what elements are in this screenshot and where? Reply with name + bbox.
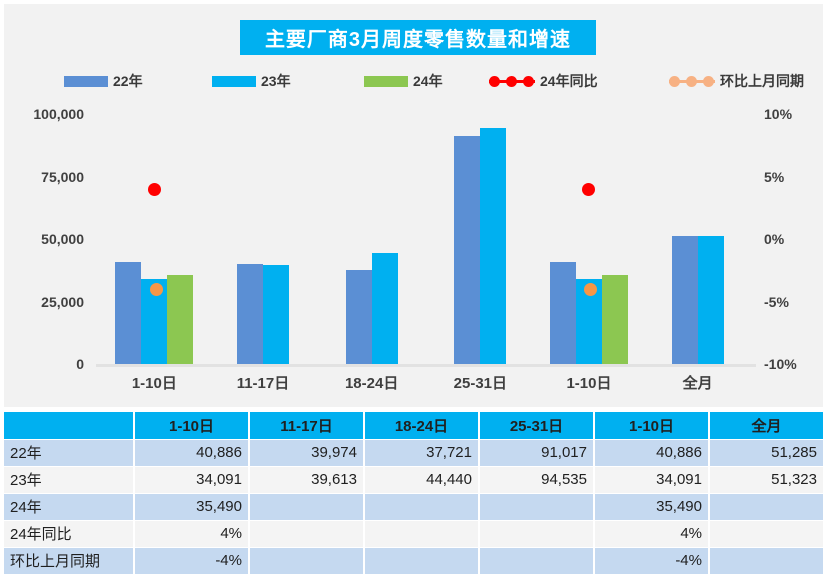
bar-group bbox=[535, 114, 644, 364]
plot-area bbox=[100, 114, 752, 364]
table-row-label: 23年 bbox=[4, 466, 134, 493]
y-axis-tick-left: 75,000 bbox=[41, 170, 84, 184]
chart-panel: 主要厂商3月周度零售数量和增速 22年23年24年24年同比环比上月同期 100… bbox=[4, 4, 823, 407]
table-cell: 40,886 bbox=[134, 439, 249, 466]
table-cell: 51,285 bbox=[709, 439, 823, 466]
y-axis-tick-right: 10% bbox=[764, 107, 792, 121]
bar-22年 bbox=[454, 136, 480, 364]
table-cell bbox=[364, 493, 479, 520]
legend-marker-icon bbox=[489, 75, 535, 87]
chart-screenshot: 主要厂商3月周度零售数量和增速 22年23年24年24年同比环比上月同期 100… bbox=[0, 0, 827, 575]
chart-legend: 22年23年24年24年同比环比上月同期 bbox=[64, 68, 784, 94]
bar-group bbox=[209, 114, 318, 364]
bar-22年 bbox=[115, 262, 141, 364]
table-cell: 40,886 bbox=[594, 439, 709, 466]
table-header-row: 1-10日11-17日18-24日25-31日1-10日全月 bbox=[4, 412, 823, 439]
legend-label: 24年 bbox=[413, 71, 443, 91]
table-row: 24年同比4%4% bbox=[4, 520, 823, 547]
legend-color-swatch bbox=[64, 76, 108, 87]
table-cell bbox=[709, 547, 823, 574]
y-axis-tick-left: 100,000 bbox=[33, 107, 84, 121]
table-cell bbox=[479, 520, 594, 547]
x-axis-label: 1-10日 bbox=[535, 372, 644, 393]
table-cell: 4% bbox=[134, 520, 249, 547]
x-axis-label: 1-10日 bbox=[100, 372, 209, 393]
table-cell: 35,490 bbox=[594, 493, 709, 520]
point-环比上月同期 bbox=[584, 283, 597, 296]
y-axis-tick-right: 0% bbox=[764, 232, 784, 246]
table-column-header: 18-24日 bbox=[364, 412, 479, 439]
bar-group bbox=[317, 114, 426, 364]
table-cell: -4% bbox=[134, 547, 249, 574]
bar-group bbox=[426, 114, 535, 364]
y-axis-tick-left: 0 bbox=[76, 357, 84, 371]
y-axis-right: 10%5%0%-5%-10% bbox=[754, 104, 826, 372]
x-axis-label: 18-24日 bbox=[317, 372, 426, 393]
table-cell bbox=[709, 493, 823, 520]
bar-22年 bbox=[550, 262, 576, 364]
bar-23年 bbox=[698, 236, 724, 364]
x-axis-label: 全月 bbox=[643, 372, 752, 393]
table-cell bbox=[479, 547, 594, 574]
table-row: 24年35,49035,490 bbox=[4, 493, 823, 520]
point-24年同比 bbox=[582, 183, 595, 196]
point-24年同比 bbox=[148, 183, 161, 196]
bar-23年 bbox=[480, 128, 506, 364]
bar-23年 bbox=[263, 265, 289, 364]
legend-23[interactable]: 23年 bbox=[212, 68, 291, 94]
y-axis-tick-right: -10% bbox=[764, 357, 797, 371]
legend-color-swatch bbox=[364, 76, 408, 87]
bar-23年 bbox=[372, 253, 398, 364]
legend-label: 22年 bbox=[113, 71, 143, 91]
y-axis-tick-right: 5% bbox=[764, 170, 784, 184]
table-row: 23年34,09139,61344,44094,53534,09151,323 bbox=[4, 466, 823, 493]
table-column-header: 1-10日 bbox=[594, 412, 709, 439]
legend-22[interactable]: 22年 bbox=[64, 68, 143, 94]
bar-group bbox=[643, 114, 752, 364]
y-axis-left: 100,00075,00050,00025,0000 bbox=[4, 104, 92, 372]
table-corner-cell bbox=[4, 412, 134, 439]
x-axis-label: 25-31日 bbox=[426, 372, 535, 393]
legend-label: 24年同比 bbox=[540, 71, 598, 91]
data-table: 1-10日11-17日18-24日25-31日1-10日全月22年40,8863… bbox=[4, 412, 823, 575]
table-cell bbox=[249, 547, 364, 574]
bar-24年 bbox=[602, 275, 628, 364]
table-column-header: 1-10日 bbox=[134, 412, 249, 439]
legend-marker-icon bbox=[669, 75, 715, 87]
legend-label: 环比上月同期 bbox=[720, 71, 804, 91]
bar-24年 bbox=[167, 275, 193, 364]
table-column-header: 25-31日 bbox=[479, 412, 594, 439]
bar-group bbox=[100, 114, 209, 364]
bar-22年 bbox=[237, 264, 263, 364]
table-cell bbox=[364, 520, 479, 547]
table-cell: 4% bbox=[594, 520, 709, 547]
table-cell: -4% bbox=[594, 547, 709, 574]
bar-22年 bbox=[672, 236, 698, 364]
table-cell: 34,091 bbox=[594, 466, 709, 493]
table-cell: 35,490 bbox=[134, 493, 249, 520]
bar-22年 bbox=[346, 270, 372, 364]
table-row-label: 24年 bbox=[4, 493, 134, 520]
legend-mom[interactable]: 环比上月同期 bbox=[669, 68, 804, 94]
table-cell: 91,017 bbox=[479, 439, 594, 466]
table-cell: 94,535 bbox=[479, 466, 594, 493]
table-cell: 51,323 bbox=[709, 466, 823, 493]
table-cell bbox=[364, 547, 479, 574]
y-axis-tick-left: 25,000 bbox=[41, 295, 84, 309]
y-axis-tick-left: 50,000 bbox=[41, 232, 84, 246]
chart-title: 主要厂商3月周度零售数量和增速 bbox=[240, 20, 596, 55]
table-cell bbox=[249, 520, 364, 547]
table-cell bbox=[479, 493, 594, 520]
y-axis-tick-right: -5% bbox=[764, 295, 789, 309]
table-cell: 37,721 bbox=[364, 439, 479, 466]
legend-color-swatch bbox=[212, 76, 256, 87]
x-axis-categories: 1-10日11-17日18-24日25-31日1-10日全月 bbox=[100, 372, 752, 398]
x-axis-label: 11-17日 bbox=[209, 372, 318, 393]
table-row: 22年40,88639,97437,72191,01740,88651,285 bbox=[4, 439, 823, 466]
table-cell: 34,091 bbox=[134, 466, 249, 493]
table-row-label: 24年同比 bbox=[4, 520, 134, 547]
table-cell: 39,974 bbox=[249, 439, 364, 466]
table-cell bbox=[709, 520, 823, 547]
table-cell bbox=[249, 493, 364, 520]
table-row: 环比上月同期-4%-4% bbox=[4, 547, 823, 574]
axis-baseline bbox=[96, 364, 756, 367]
legend-label: 23年 bbox=[261, 71, 291, 91]
legend-24[interactable]: 24年 bbox=[364, 68, 443, 94]
table-cell: 39,613 bbox=[249, 466, 364, 493]
table-column-header: 全月 bbox=[709, 412, 823, 439]
table-row-label: 22年 bbox=[4, 439, 134, 466]
table-column-header: 11-17日 bbox=[249, 412, 364, 439]
point-环比上月同期 bbox=[150, 283, 163, 296]
table-cell: 44,440 bbox=[364, 466, 479, 493]
data-table-wrapper: 1-10日11-17日18-24日25-31日1-10日全月22年40,8863… bbox=[4, 412, 823, 571]
legend-yoy[interactable]: 24年同比 bbox=[489, 68, 598, 94]
table-row-label: 环比上月同期 bbox=[4, 547, 134, 574]
